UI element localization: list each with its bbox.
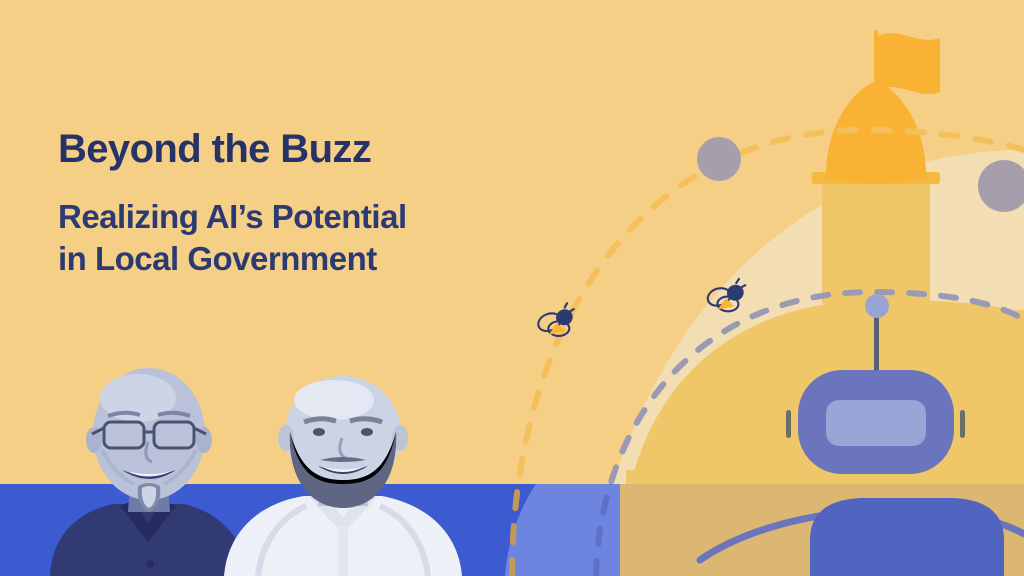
speaker-headshot — [218, 376, 468, 576]
speaker-headshots — [0, 346, 500, 576]
decorative-circle — [697, 137, 741, 181]
robot-antenna-bulb — [865, 294, 889, 318]
slide-canvas: Beyond the Buzz Realizing AI’s Potential… — [0, 0, 1024, 576]
robot-face-screen — [826, 400, 926, 446]
